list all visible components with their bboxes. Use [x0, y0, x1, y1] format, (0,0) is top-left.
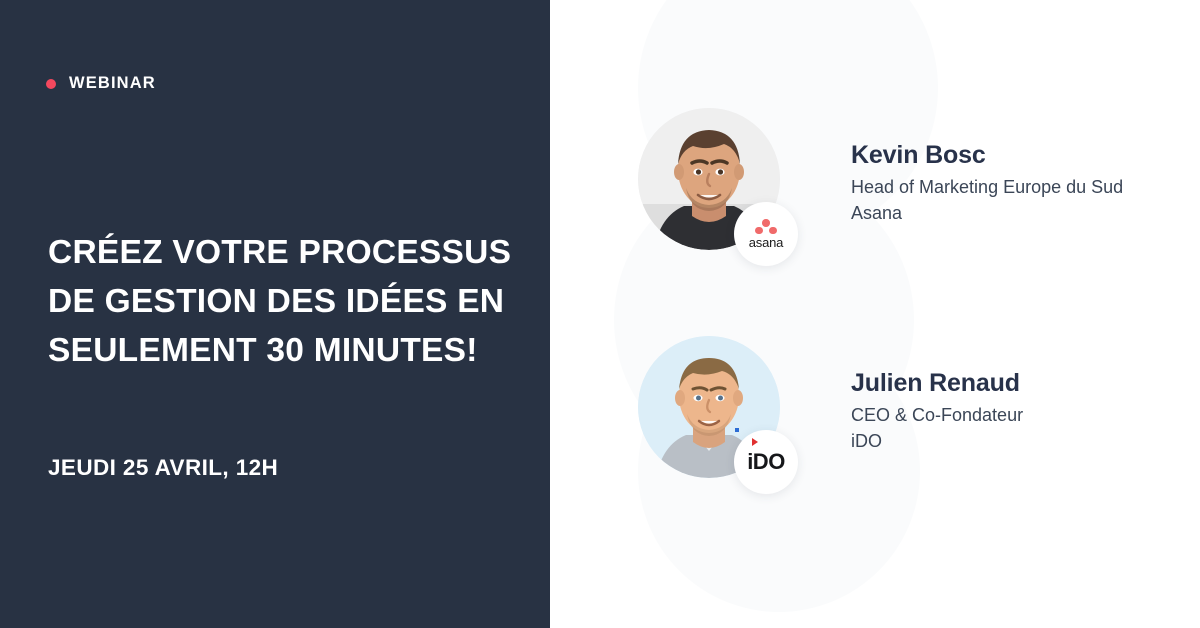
eyebrow-label: WEBINAR [69, 74, 156, 93]
avatar-wrapper: iDO [638, 336, 780, 478]
speaker-card: asana Kevin Bosc Head of Marketing Europ… [638, 108, 1123, 250]
avatar-wrapper: asana [638, 108, 780, 250]
asana-dot-right [769, 227, 777, 235]
asana-dot-left [755, 227, 763, 235]
speaker-company: iDO [851, 428, 1023, 454]
asana-logo-icon: asana [734, 202, 798, 266]
speakers-panel: asana Kevin Bosc Head of Marketing Europ… [550, 0, 1200, 628]
speaker-info: Julien Renaud CEO & Co-Fondateur iDO [851, 336, 1023, 455]
headline-line-2: DE GESTION DES IDÉES EN [48, 277, 518, 326]
event-datetime: JEUDI 25 AVRIL, 12H [48, 455, 278, 481]
asana-wordmark: asana [749, 236, 783, 249]
speaker-role: Head of Marketing Europe du Sud [851, 174, 1123, 200]
headline-line-1: CRÉEZ VOTRE PROCESSUS [48, 228, 518, 277]
speaker-name: Julien Renaud [851, 368, 1023, 398]
ido-logo-icon: iDO [734, 430, 798, 494]
eyebrow-badge: WEBINAR [46, 74, 156, 93]
bullet-dot-icon [46, 79, 56, 89]
speaker-info: Kevin Bosc Head of Marketing Europe du S… [851, 108, 1123, 227]
speaker-name: Kevin Bosc [851, 140, 1123, 170]
asana-dot-top [762, 219, 770, 227]
speaker-role: CEO & Co-Fondateur [851, 402, 1023, 428]
speaker-company: Asana [851, 200, 1123, 226]
ido-red-accent-icon [752, 438, 758, 446]
page-title: CRÉEZ VOTRE PROCESSUS DE GESTION DES IDÉ… [48, 228, 518, 376]
headline-line-3: SEULEMENT 30 MINUTES! [48, 326, 518, 375]
ido-wordmark: iDO [747, 451, 785, 473]
ido-blue-dot-icon [735, 428, 739, 432]
webinar-promo-banner: WEBINAR CRÉEZ VOTRE PROCESSUS DE GESTION… [0, 0, 1200, 628]
left-content-panel: WEBINAR CRÉEZ VOTRE PROCESSUS DE GESTION… [0, 0, 550, 628]
asana-dots-icon [755, 219, 777, 234]
speaker-card: iDO Julien Renaud CEO & Co-Fondateur iDO [638, 336, 1023, 478]
